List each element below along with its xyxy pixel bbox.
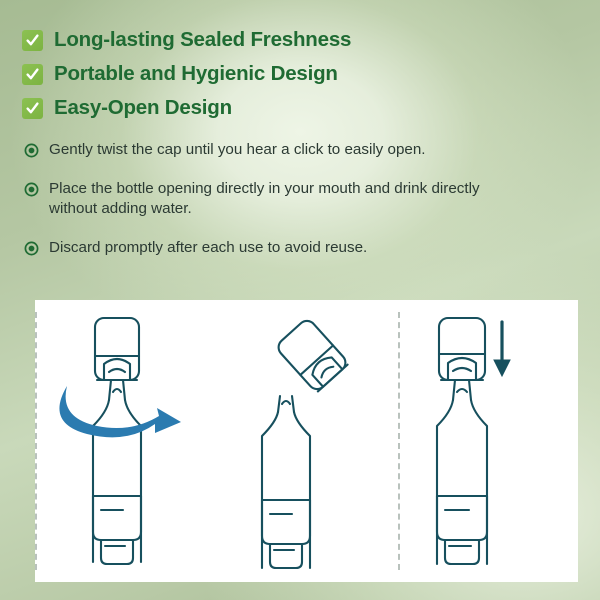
- feature-item: Portable and Hygienic Design: [22, 58, 578, 91]
- feature-list: Long-lasting Sealed Freshness Portable a…: [22, 24, 578, 126]
- check-icon: [22, 30, 43, 51]
- feature-item-label: Portable and Hygienic Design: [54, 63, 338, 86]
- product-instruction-infographic: Long-lasting Sealed Freshness Portable a…: [0, 0, 600, 600]
- instruction-item: Gently twist the cap until you hear a cl…: [24, 140, 544, 160]
- feature-item: Long-lasting Sealed Freshness: [22, 24, 578, 57]
- bottle-with-rotation-arrow-icon: [35, 300, 216, 582]
- down-arrow-icon: [494, 322, 510, 376]
- check-icon: [22, 64, 43, 85]
- bottle-with-down-arrow-icon: [397, 300, 578, 582]
- rotation-arrow-icon: [59, 386, 181, 437]
- radio-dot-icon: [24, 182, 39, 197]
- twist-cap-step: [35, 300, 216, 582]
- radio-dot-icon: [24, 241, 39, 256]
- replace-cap-step: [397, 300, 578, 582]
- illustration-panel: [35, 300, 578, 582]
- instruction-item: Discard promptly after each use to avoid…: [24, 238, 544, 258]
- instruction-item: Place the bottle opening directly in you…: [24, 179, 544, 219]
- radio-dot-icon: [24, 143, 39, 158]
- bottle-with-tilted-cap-icon: [216, 300, 397, 582]
- feature-item: Easy-Open Design: [22, 92, 578, 125]
- feature-item-label: Long-lasting Sealed Freshness: [54, 29, 351, 52]
- instruction-list: Gently twist the cap until you hear a cl…: [24, 140, 544, 277]
- feature-item-label: Easy-Open Design: [54, 97, 232, 120]
- instruction-item-text: Gently twist the cap until you hear a cl…: [49, 140, 426, 160]
- instruction-item-text: Place the bottle opening directly in you…: [49, 179, 509, 219]
- check-icon: [22, 98, 43, 119]
- instruction-item-text: Discard promptly after each use to avoid…: [49, 238, 367, 258]
- remove-cap-step: [216, 300, 397, 582]
